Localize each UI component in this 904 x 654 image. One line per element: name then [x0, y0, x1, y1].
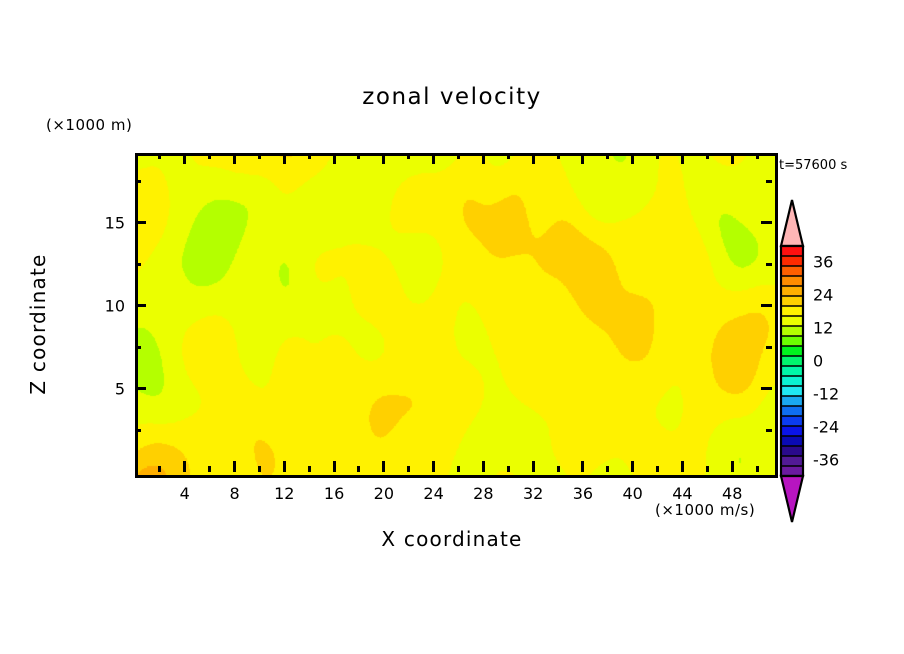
x-axis-tick-label: 36 [573, 484, 593, 503]
colorbar-band [781, 406, 803, 416]
x-axis-tick-label: 24 [423, 484, 443, 503]
x-axis-tick-major [731, 461, 734, 472]
y-axis-tick-minor-right [766, 263, 772, 266]
colorbar-tick-label: -36 [813, 450, 839, 469]
x-axis-tick-label: 8 [229, 484, 239, 503]
y-axis-tick-major-right [761, 387, 772, 390]
x-axis-tick-label: 16 [324, 484, 344, 503]
x-axis-tick-label: 20 [374, 484, 394, 503]
colorbar-band [781, 336, 803, 346]
x-axis-tick-label: 32 [523, 484, 543, 503]
figure-canvas: zonal velocity (×1000 m) t=57600 s 48121… [0, 0, 904, 654]
y-axis-tick-major [135, 387, 146, 390]
colorbar-over-range-arrow [781, 200, 803, 246]
x-axis-tick-major-top [283, 153, 286, 164]
y-axis-tick-minor [135, 180, 141, 183]
y-axis-tick-major-right [761, 304, 772, 307]
x-axis-title: X coordinate [0, 527, 904, 551]
x-axis-tick-minor [308, 466, 311, 472]
y-axis-tick-label: 15 [77, 213, 125, 232]
x-axis-tick-label: 40 [622, 484, 642, 503]
x-axis-tick-major-top [581, 153, 584, 164]
colorbar-band [781, 286, 803, 296]
colorbar-tick-label: -24 [813, 417, 839, 436]
x-axis-tick-minor-top [507, 153, 510, 159]
x-axis-tick-minor-top [656, 153, 659, 159]
x-axis-tick-minor-top [208, 153, 211, 159]
colorbar: 3624120-12-24-36 [779, 198, 805, 524]
x-axis-tick-minor-top [756, 153, 759, 159]
x-axis-tick-minor [706, 466, 709, 472]
colorbar-band [781, 356, 803, 366]
x-axis-tick-major-top [333, 153, 336, 164]
y-axis-tick-minor [135, 263, 141, 266]
y-axis-tick-major [135, 221, 146, 224]
colorbar-band [781, 426, 803, 436]
x-axis-tick-major [532, 461, 535, 472]
x-axis-tick-major-top [183, 153, 186, 164]
y-axis-tick-minor-right [766, 180, 772, 183]
time-stamp-label: t=57600 s [779, 158, 847, 173]
x-axis-tick-major-top [681, 153, 684, 164]
colorbar-band [781, 366, 803, 376]
x-axis-tick-minor-top [308, 153, 311, 159]
contour-plot-area [135, 153, 778, 478]
colorbar-band [781, 276, 803, 286]
x-axis-tick-major [333, 461, 336, 472]
colorbar-scale [779, 198, 805, 524]
colorbar-band [781, 396, 803, 406]
y-axis-tick-major [135, 304, 146, 307]
x-axis-tick-major [631, 461, 634, 472]
velocity-field-image [138, 156, 775, 475]
colorbar-band [781, 266, 803, 276]
colorbar-band [781, 386, 803, 396]
x-axis-tick-minor-top [457, 153, 460, 159]
x-axis-tick-major [681, 461, 684, 472]
x-axis-tick-major-top [631, 153, 634, 164]
x-axis-tick-minor-top [407, 153, 410, 159]
colorbar-unit-label: (×1000 m/s) [655, 501, 755, 519]
y-axis-tick-minor [135, 346, 141, 349]
x-axis-tick-major-top [233, 153, 236, 164]
x-axis-tick-minor-top [357, 153, 360, 159]
y-axis-tick-label: 10 [77, 296, 125, 315]
x-axis-tick-major-top [482, 153, 485, 164]
x-axis-tick-minor [557, 466, 560, 472]
x-axis-tick-major-top [532, 153, 535, 164]
page-title: zonal velocity [0, 84, 904, 110]
y-axis-tick-minor-right [766, 346, 772, 349]
x-axis-tick-major [482, 461, 485, 472]
colorbar-tick-label: 12 [813, 319, 833, 338]
colorbar-band [781, 456, 803, 466]
x-axis-tick-minor [457, 466, 460, 472]
colorbar-band [781, 346, 803, 356]
colorbar-band [781, 446, 803, 456]
x-axis-tick-minor-top [557, 153, 560, 159]
y-axis-title: Z coordinate [26, 253, 50, 394]
colorbar-band [781, 416, 803, 426]
y-axis-tick-minor [135, 429, 141, 432]
x-axis-tick-minor [357, 466, 360, 472]
x-axis-tick-minor [158, 466, 161, 472]
x-axis-tick-minor [407, 466, 410, 472]
x-axis-tick-major [283, 461, 286, 472]
y-axis-tick-major-right [761, 221, 772, 224]
colorbar-band [781, 256, 803, 266]
colorbar-band [781, 296, 803, 306]
x-axis-tick-major-top [731, 153, 734, 164]
x-axis-tick-major [581, 461, 584, 472]
y-axis-unit-label: (×1000 m) [46, 116, 132, 134]
x-axis-tick-label: 12 [274, 484, 294, 503]
colorbar-band [781, 436, 803, 446]
x-axis-tick-minor-top [258, 153, 261, 159]
colorbar-band [781, 466, 803, 476]
x-axis-tick-minor-top [606, 153, 609, 159]
y-axis-tick-minor-right [766, 429, 772, 432]
colorbar-band [781, 306, 803, 316]
x-axis-tick-minor [756, 466, 759, 472]
x-axis-tick-minor [656, 466, 659, 472]
x-axis-tick-major-top [432, 153, 435, 164]
x-axis-tick-minor [258, 466, 261, 472]
x-axis-tick-major [233, 461, 236, 472]
colorbar-band [781, 376, 803, 386]
x-axis-tick-major [432, 461, 435, 472]
x-axis-tick-minor [208, 466, 211, 472]
colorbar-tick-label: 0 [813, 352, 823, 371]
colorbar-tick-label: -12 [813, 384, 839, 403]
colorbar-tick-label: 24 [813, 286, 833, 305]
x-axis-tick-minor-top [706, 153, 709, 159]
x-axis-tick-minor [507, 466, 510, 472]
colorbar-tick-label: 36 [813, 253, 833, 272]
colorbar-under-range-arrow [781, 476, 803, 522]
x-axis-tick-major-top [382, 153, 385, 164]
x-axis-tick-minor [606, 466, 609, 472]
x-axis-tick-label: 4 [180, 484, 190, 503]
x-axis-tick-major [382, 461, 385, 472]
colorbar-band [781, 316, 803, 326]
x-axis-tick-major [183, 461, 186, 472]
x-axis-tick-minor-top [158, 153, 161, 159]
colorbar-band [781, 326, 803, 336]
y-axis-tick-label: 5 [77, 379, 125, 398]
colorbar-band [781, 246, 803, 256]
x-axis-tick-label: 28 [473, 484, 493, 503]
